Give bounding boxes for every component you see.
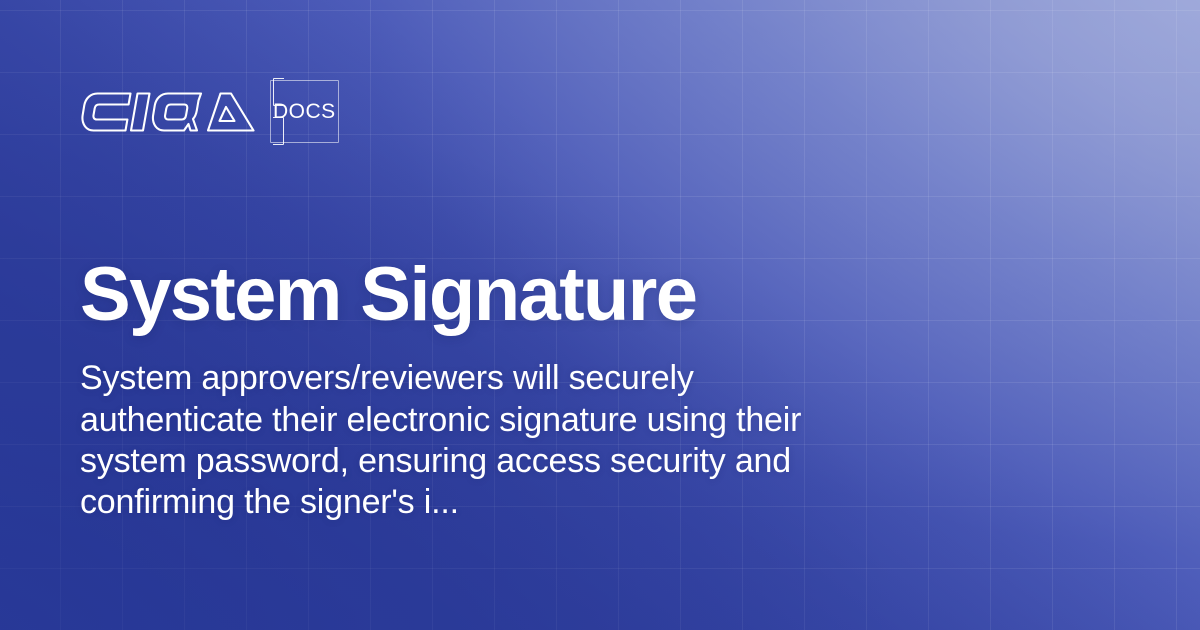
ciqa-wordmark-icon	[80, 90, 256, 134]
og-card: DOCS System Signature System approvers/r…	[0, 0, 1200, 630]
docs-badge: DOCS	[270, 80, 339, 143]
ciqa-docs-logo[interactable]: DOCS	[80, 80, 339, 143]
page-description: System approvers/reviewers will securely…	[80, 358, 840, 523]
docs-badge-label: DOCS	[273, 101, 336, 122]
text-block: System Signature System approvers/review…	[80, 258, 910, 523]
card-content: DOCS System Signature System approvers/r…	[0, 0, 1200, 630]
docs-badge-inner: DOCS	[273, 78, 336, 145]
page-title: System Signature	[80, 258, 910, 332]
